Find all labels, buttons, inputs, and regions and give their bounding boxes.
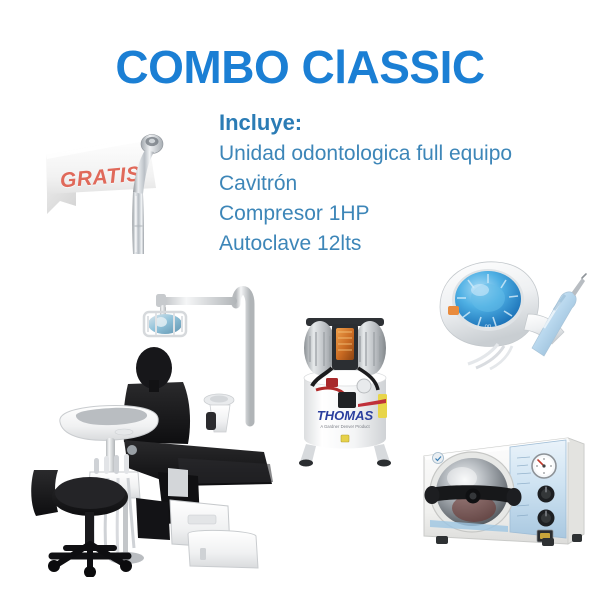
cavitron-graphic: on: [432, 252, 590, 370]
air-compressor-image: THOMAS A Gardner Denver Product: [286, 306, 404, 468]
ultrasonic-scaler-image: on: [432, 252, 590, 370]
compressor-tagline-text: A Gardner Denver Product: [320, 424, 370, 429]
dental-handpiece-image: [108, 130, 178, 255]
product-poster: COMBO ClASSIC Incluye: Unidad odontologi…: [0, 0, 600, 600]
dental-chair-unit-image: [28, 272, 298, 577]
svg-text:on: on: [485, 324, 492, 330]
compressor-graphic: THOMAS A Gardner Denver Product: [286, 306, 404, 468]
dental-unit-graphic: [28, 272, 298, 577]
handpiece-graphic: [108, 130, 178, 255]
includes-heading: Incluye:: [219, 108, 589, 137]
include-item-2: Cavitrón: [219, 169, 589, 199]
compressor-brand-text: THOMAS: [317, 408, 374, 423]
autoclave-graphic: [418, 422, 590, 562]
page-title: COMBO ClASSIC: [0, 40, 600, 94]
include-item-3: Compresor 1HP: [219, 199, 589, 229]
includes-list: Incluye: Unidad odontologica full equipo…: [219, 108, 589, 259]
include-item-1: Unidad odontologica full equipo: [219, 139, 589, 169]
autoclave-image: [418, 422, 590, 562]
